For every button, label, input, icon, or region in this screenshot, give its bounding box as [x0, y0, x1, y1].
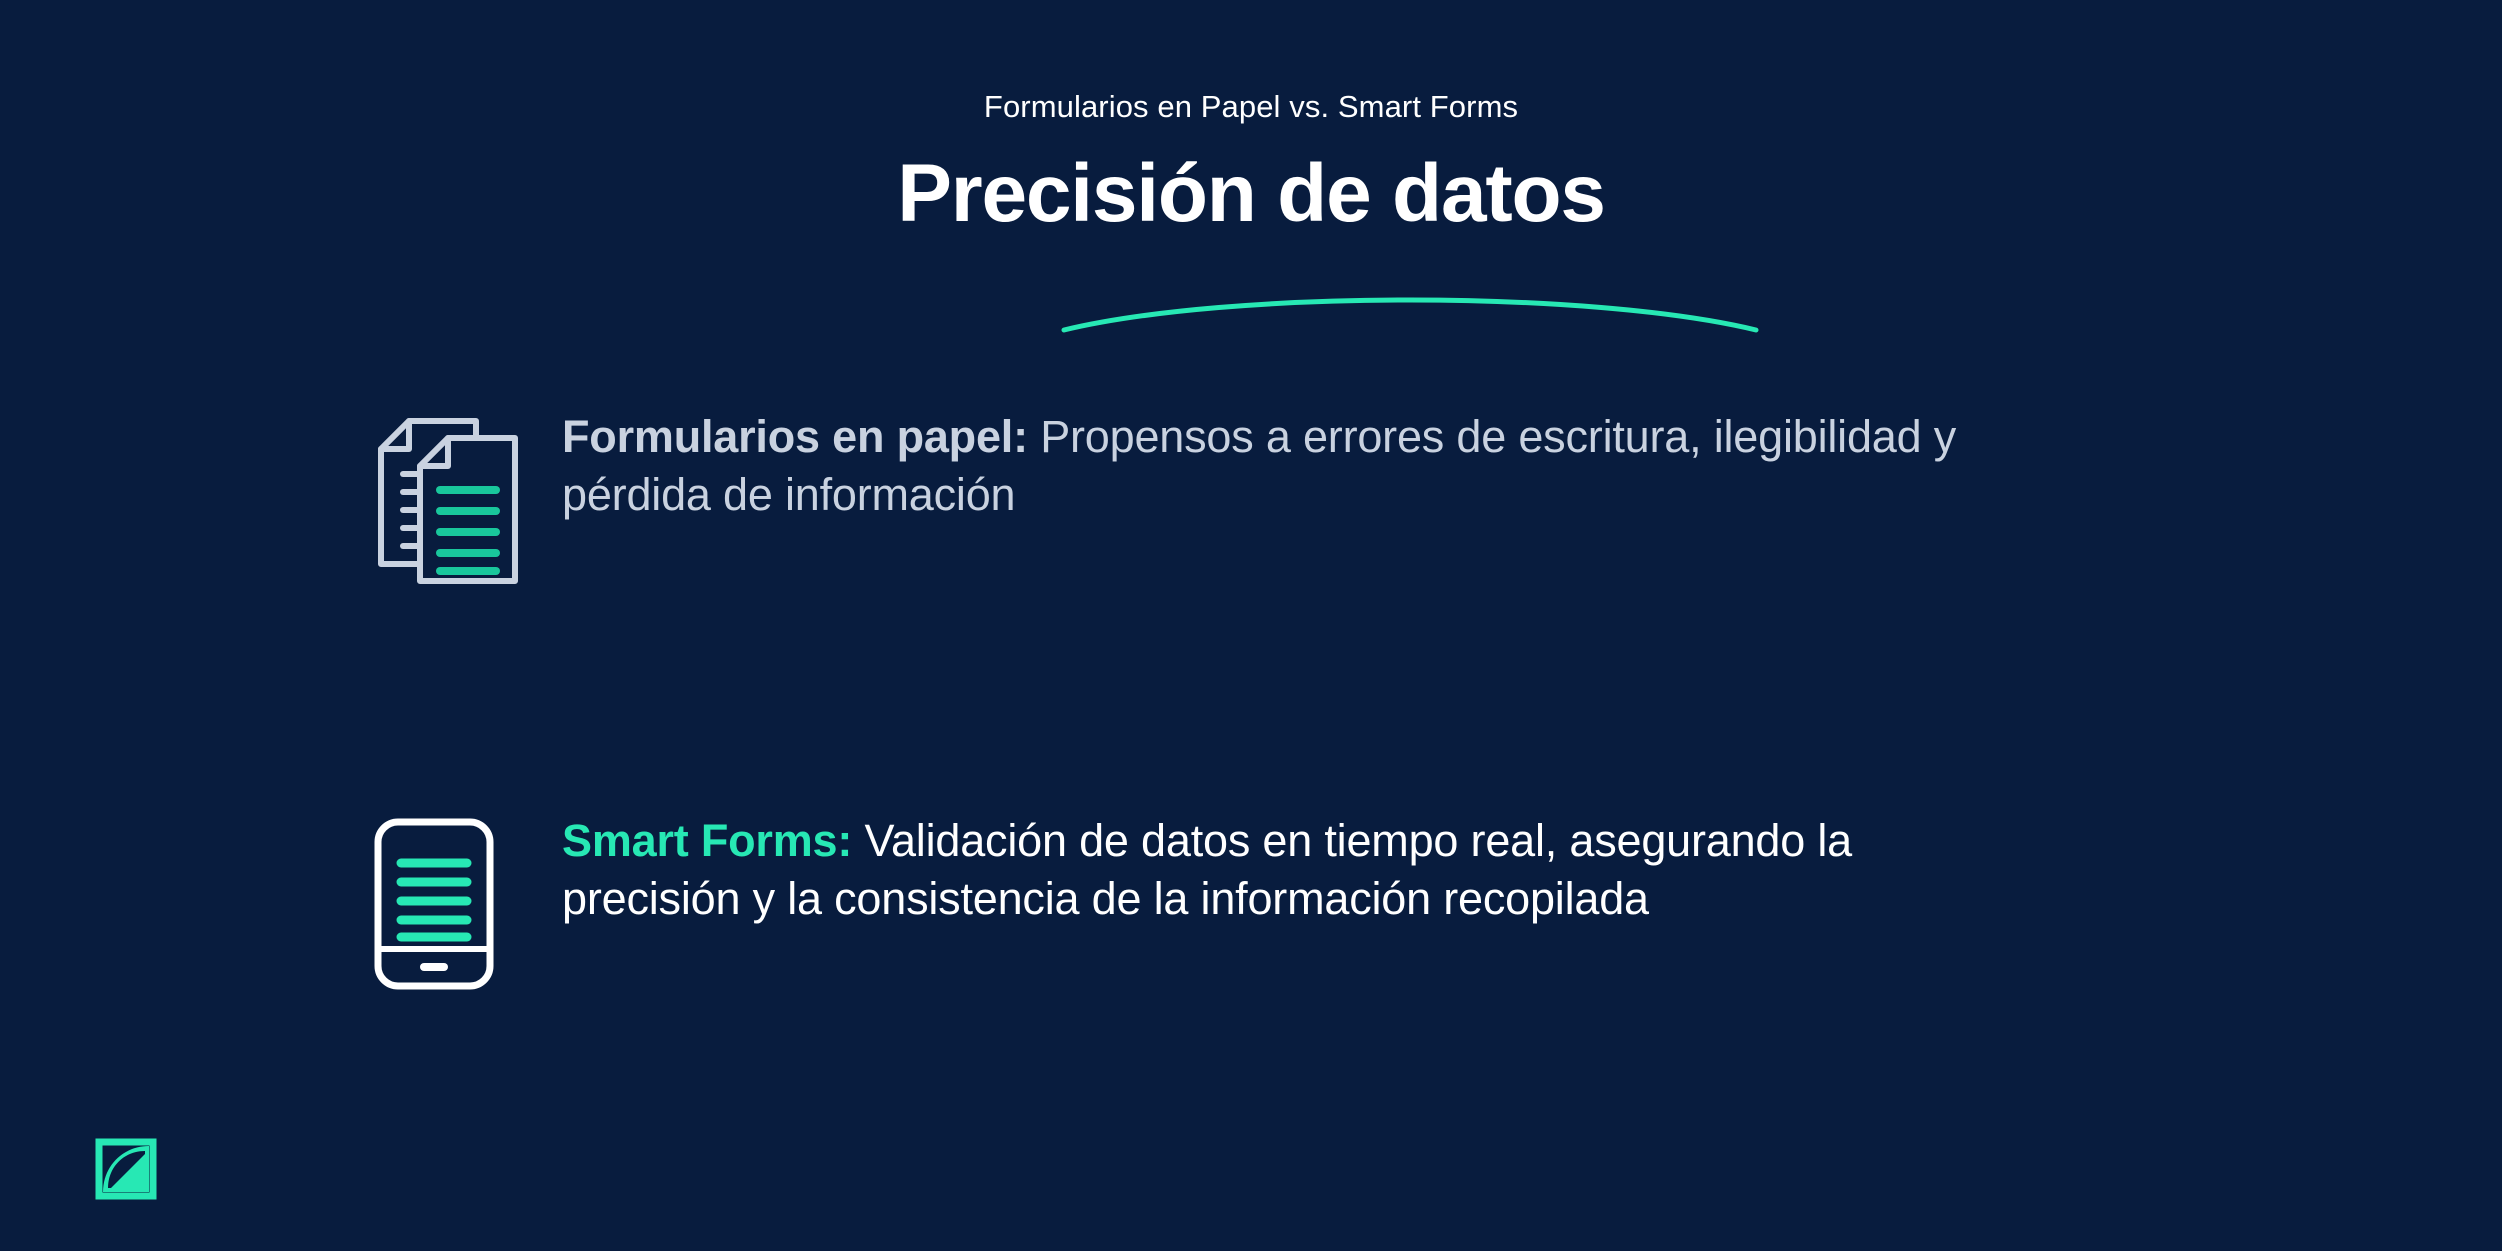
list-item-text: Formularios en papel: Propensos a errore… — [562, 408, 1982, 523]
tablet-device-icon — [372, 812, 562, 992]
content-rows: Formularios en papel: Propensos a errore… — [0, 0, 2502, 1251]
list-item-text: Smart Forms: Validación de datos en tiem… — [562, 812, 1982, 927]
list-item: Smart Forms: Validación de datos en tiem… — [372, 812, 1982, 992]
slide-root: Formularios en Papel vs. Smart Forms Pre… — [0, 0, 2502, 1251]
list-item-lead: Smart Forms: — [562, 815, 852, 866]
list-item-lead: Formularios en papel: — [562, 411, 1028, 462]
list-item: Formularios en papel: Propensos a errore… — [372, 408, 1982, 590]
square-arc-logo-icon — [95, 1138, 157, 1200]
documents-stack-icon — [372, 408, 562, 590]
